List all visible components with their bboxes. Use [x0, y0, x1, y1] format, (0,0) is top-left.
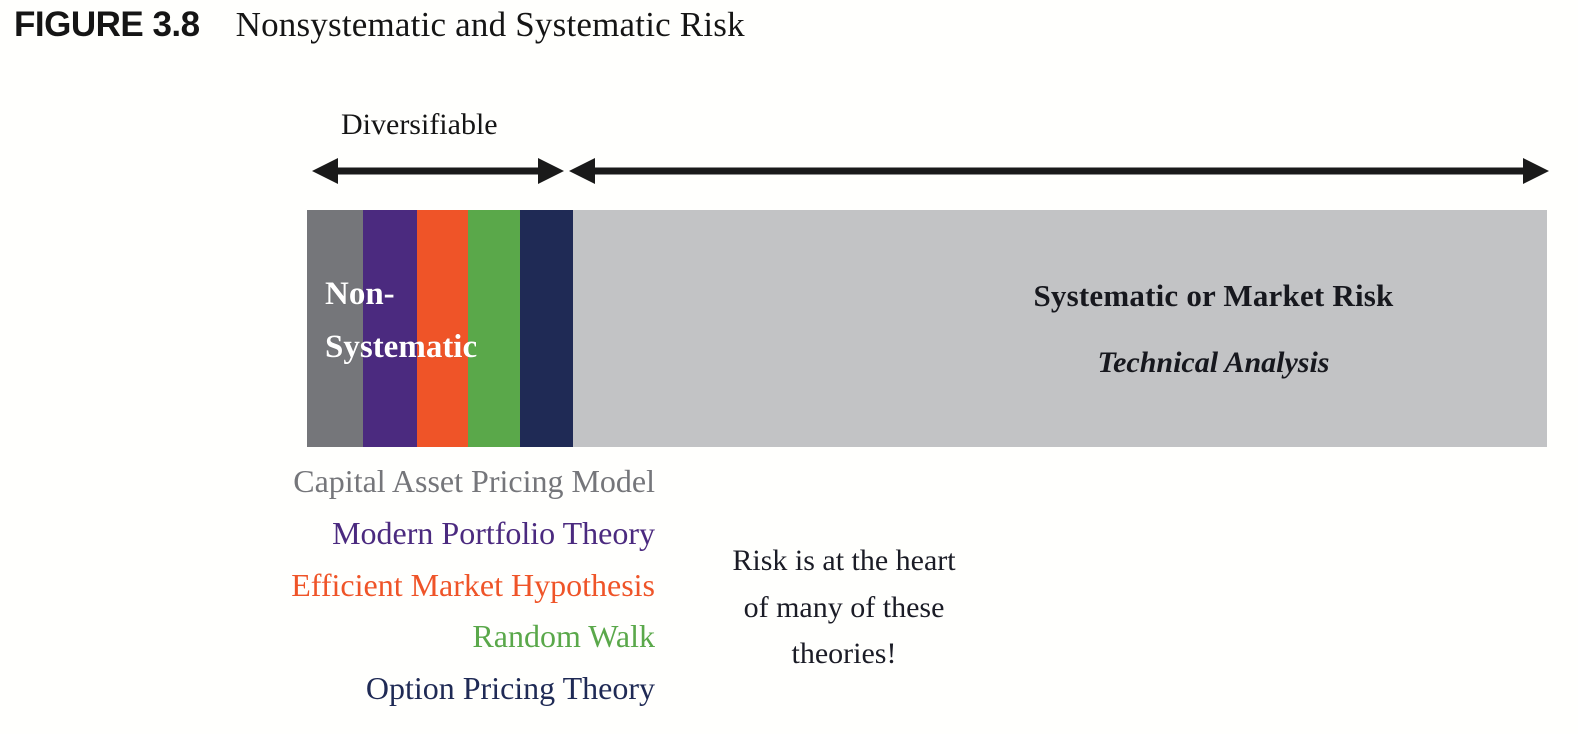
- legend-item-capital-asset-pricing-model: Capital Asset Pricing Model: [160, 456, 655, 508]
- diversifiable-label: Diversifiable: [341, 108, 498, 142]
- technical-analysis-subtitle: Technical Analysis: [1098, 346, 1330, 380]
- risk-bar: Non- Systematic Systematic or Market Ris…: [307, 210, 1547, 447]
- double-headed-arrow-icon: [569, 156, 1549, 186]
- legend-item-option-pricing-theory: Option Pricing Theory: [160, 663, 655, 715]
- side-note: Risk is at the heart of many of these th…: [694, 538, 994, 678]
- figure-title: Nonsystematic and Systematic Risk: [236, 5, 745, 45]
- figure-header: FIGURE 3.8 Nonsystematic and Systematic …: [14, 5, 745, 45]
- nonsystematic-label-line1: Non-: [325, 268, 477, 321]
- nonsystematic-label-line2: Systematic: [325, 321, 477, 374]
- systematic-range-arrow: [569, 156, 1549, 186]
- nonsystematic-label: Non- Systematic: [325, 268, 477, 375]
- side-note-line1: Risk is at the heart: [694, 538, 994, 585]
- figure-number: FIGURE 3.8: [14, 5, 200, 45]
- side-note-line2: of many of these: [694, 585, 994, 632]
- diversifiable-range-arrow: [312, 156, 564, 186]
- side-note-line3: theories!: [694, 631, 994, 678]
- systematic-risk-title: Systematic or Market Risk: [1033, 278, 1393, 314]
- legend-item-modern-portfolio-theory: Modern Portfolio Theory: [160, 508, 655, 560]
- band-option-pricing-theory: [520, 210, 573, 447]
- theory-legend: Capital Asset Pricing Model Modern Portf…: [160, 456, 655, 715]
- legend-item-random-walk: Random Walk: [160, 611, 655, 663]
- legend-item-efficient-market-hypothesis: Efficient Market Hypothesis: [160, 560, 655, 612]
- double-headed-arrow-icon: [312, 156, 564, 186]
- systematic-risk-text-block: Systematic or Market Risk Technical Anal…: [880, 210, 1547, 447]
